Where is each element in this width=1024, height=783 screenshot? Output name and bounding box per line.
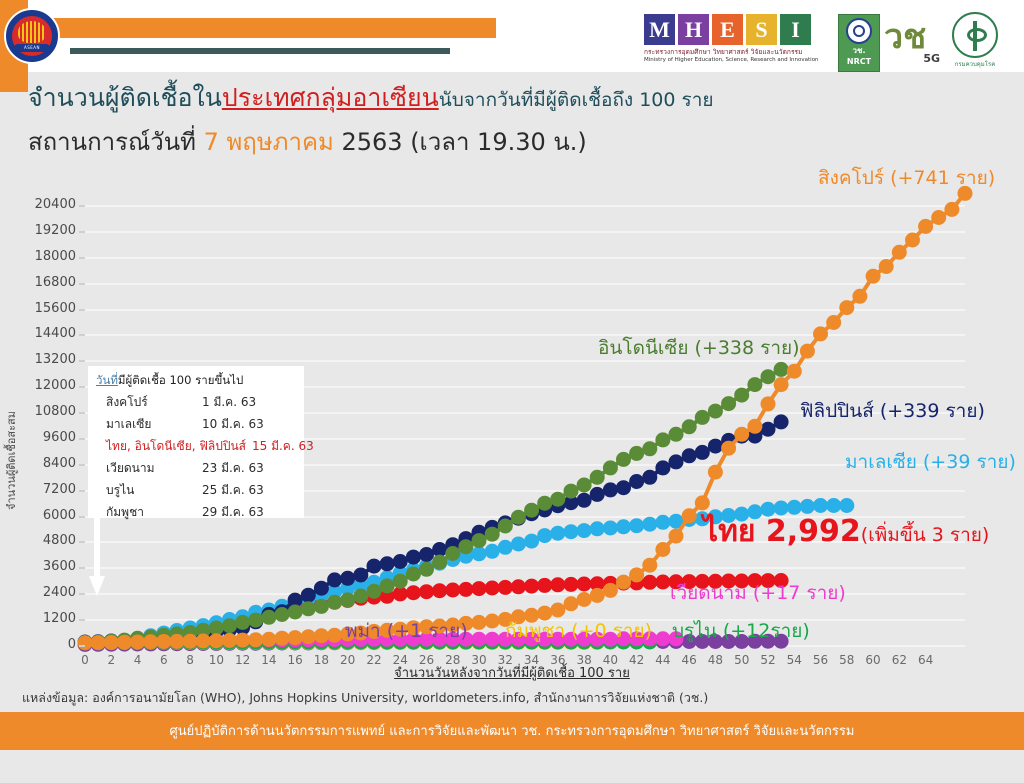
- y-axis-tick-label: 0: [6, 637, 76, 652]
- data-point: [590, 470, 605, 485]
- series-label-vietnam: เวียดนาม (+17 ราย): [670, 578, 846, 608]
- legend-date: 10 มี.ค. 63: [202, 417, 264, 431]
- data-point: [288, 630, 303, 645]
- data-point: [314, 628, 329, 643]
- data-point: [406, 567, 421, 582]
- data-point: [340, 592, 355, 607]
- wo-5g-logo: วช 5G: [884, 20, 940, 66]
- data-point: [196, 634, 211, 649]
- data-point: [524, 579, 539, 594]
- y-axis-tick-mark: [79, 516, 85, 518]
- data-point: [432, 583, 447, 598]
- data-point: [603, 521, 618, 536]
- legend-country: บรูไน: [106, 481, 202, 500]
- y-axis-tick-mark: [79, 386, 85, 388]
- data-point: [156, 634, 171, 649]
- data-point: [616, 452, 631, 467]
- data-point: [787, 364, 802, 379]
- y-axis-tick-mark: [79, 593, 85, 595]
- y-axis-tick-mark: [79, 231, 85, 233]
- data-point: [472, 632, 487, 647]
- y-axis-tick-mark: [79, 645, 85, 647]
- data-point: [78, 635, 93, 650]
- data-point: [642, 517, 657, 532]
- asean-logo-icon: ASEAN: [4, 8, 60, 64]
- data-point: [537, 496, 552, 511]
- data-point: [511, 579, 526, 594]
- data-point: [695, 410, 710, 425]
- data-point: [130, 635, 145, 650]
- data-point: [866, 269, 881, 284]
- legend-row: สิงคโปร์1 มี.ค. 63: [106, 393, 296, 412]
- data-point: [511, 537, 526, 552]
- data-point: [393, 554, 408, 569]
- data-point: [577, 592, 592, 607]
- legend-date: 1 มี.ค. 63: [202, 395, 256, 409]
- y-axis-tick-mark: [79, 412, 85, 414]
- y-axis-tick-label: 20400: [6, 197, 76, 212]
- y-axis-tick-mark: [79, 283, 85, 285]
- y-axis-tick-mark: [79, 464, 85, 466]
- data-point: [655, 515, 670, 530]
- x-axis-label: จำนวนวันหลังจากวันที่มีผู้ติดเชื้อ 100 ร…: [0, 662, 1024, 683]
- data-point: [485, 544, 500, 559]
- teal-title-bar: [70, 48, 450, 54]
- thailand-new-cases: (เพิ่มขึ้น 3 ราย): [861, 524, 990, 546]
- data-point: [275, 607, 290, 622]
- legend-header-rest: มีผู้ติดเชื้อ 100 รายขึ้นไป: [118, 373, 243, 387]
- data-point: [721, 396, 736, 411]
- page-title-line-1: จำนวนผู้ติดเชื้อในประเทศกลุ่มอาเซียนนับจ…: [28, 78, 714, 118]
- y-axis-tick-label: 9600: [6, 430, 76, 445]
- title-highlight-asean: ประเทศกลุ่มอาเซียน: [222, 83, 439, 112]
- data-point: [761, 396, 776, 411]
- title-year: 2563: [341, 128, 402, 156]
- data-point: [564, 577, 579, 592]
- data-point: [91, 635, 106, 650]
- data-point: [485, 632, 500, 647]
- data-point: [629, 567, 644, 582]
- data-point: [261, 610, 276, 625]
- data-point: [747, 377, 762, 392]
- data-point: [222, 633, 237, 648]
- series-label-myanmar: พม่า (+1 ราย): [345, 616, 468, 646]
- data-point: [117, 635, 132, 650]
- data-point: [839, 300, 854, 315]
- legend-header-underline: วันที่: [96, 373, 118, 387]
- title-part-a: จำนวนผู้ติดเชื้อใน: [28, 83, 222, 112]
- data-point: [445, 546, 460, 561]
- data-point: [761, 369, 776, 384]
- data-point: [314, 581, 329, 596]
- y-axis-tick-label: 10800: [6, 404, 76, 419]
- data-point: [380, 578, 395, 593]
- data-point: [734, 388, 749, 403]
- data-point: [564, 524, 579, 539]
- data-point: [537, 528, 552, 543]
- y-axis-tick-label: 19200: [6, 223, 76, 238]
- data-point: [682, 448, 697, 463]
- data-point: [327, 572, 342, 587]
- data-point: [550, 577, 565, 592]
- data-point: [655, 542, 670, 557]
- data-point: [564, 484, 579, 499]
- data-point: [616, 575, 631, 590]
- data-point: [472, 546, 487, 561]
- data-point: [682, 508, 697, 523]
- data-point: [682, 419, 697, 434]
- data-point: [642, 558, 657, 573]
- legend-row: ไทย, อินโดนีเซีย, ฟิลิปปินส์15 มี.ค. 63: [106, 437, 296, 456]
- data-point: [800, 344, 815, 359]
- dcd-logo: กรมควบคุมโรค: [944, 12, 1006, 72]
- data-point: [577, 478, 592, 493]
- y-axis-tick-label: 18000: [6, 249, 76, 264]
- legend-row: กัมพูชา29 มี.ค. 63: [106, 503, 296, 522]
- data-point: [655, 460, 670, 475]
- data-point: [235, 633, 250, 648]
- mhesi-logo: M H E S I กระทรวงการอุดมศึกษา วิทยาศาสตร…: [644, 14, 834, 72]
- y-axis-tick-mark: [79, 309, 85, 311]
- data-point: [590, 521, 605, 536]
- data-point: [367, 584, 382, 599]
- legend-date: 15 มี.ค. 63: [252, 439, 314, 453]
- data-point: [734, 427, 749, 442]
- title-time: (เวลา 19.30 น.): [410, 128, 587, 156]
- data-point: [774, 377, 789, 392]
- data-point: [590, 487, 605, 502]
- data-point: [761, 422, 776, 437]
- data-point: [485, 581, 500, 596]
- nrct-logo: วช. NRCT: [838, 14, 880, 72]
- data-point: [708, 404, 723, 419]
- data-point: [655, 432, 670, 447]
- data-point: [813, 326, 828, 341]
- data-point: [642, 441, 657, 456]
- gear-icon: [846, 18, 872, 44]
- data-point: [708, 439, 723, 454]
- data-point: [550, 492, 565, 507]
- data-point: [944, 202, 959, 217]
- legend-date: 23 มี.ค. 63: [202, 461, 264, 475]
- data-point: [616, 519, 631, 534]
- legend-country: สิงคโปร์: [106, 393, 202, 412]
- title-date: 7 พฤษภาคม: [204, 128, 334, 156]
- data-point: [524, 534, 539, 549]
- mhesi-letters: M H E S I: [644, 14, 834, 45]
- data-point: [472, 615, 487, 630]
- data-point: [104, 635, 119, 650]
- y-axis-tick-label: 2400: [6, 585, 76, 600]
- y-axis-tick-label: 13200: [6, 352, 76, 367]
- title-part-b: นับจากวันที่มีผู้ติดเชื้อถึง 100 ราย: [439, 89, 714, 111]
- source-line: แหล่งข้อมูล: องค์การอนามัยโลก (WHO), Joh…: [22, 688, 708, 708]
- data-point: [445, 583, 460, 598]
- data-point: [603, 482, 618, 497]
- data-point: [655, 631, 670, 646]
- data-point: [774, 414, 789, 429]
- data-point: [642, 575, 657, 590]
- data-point: [209, 633, 224, 648]
- data-point: [485, 527, 500, 542]
- data-point: [629, 518, 644, 533]
- data-point: [235, 615, 250, 630]
- data-point: [380, 556, 395, 571]
- thailand-total: ไทย 2,992: [703, 514, 861, 549]
- series-label-philippines: ฟิลิปปินส์ (+339 ราย): [800, 396, 985, 426]
- legend-country: กัมพูชา: [106, 503, 202, 522]
- legend-date: 25 มี.ค. 63: [202, 483, 264, 497]
- y-axis-tick-label: 7200: [6, 482, 76, 497]
- data-point: [511, 510, 526, 525]
- caduceus-icon: [952, 12, 998, 58]
- wo-5g-badge: 5G: [923, 52, 940, 65]
- data-point: [747, 419, 762, 434]
- data-point: [406, 550, 421, 565]
- data-point: [669, 427, 684, 442]
- data-point: [655, 575, 670, 590]
- legend-row: บรูไน25 มี.ค. 63: [106, 481, 296, 500]
- orange-title-bar: [26, 18, 496, 38]
- series-label-thailand: ไทย 2,992(เพิ่มขึ้น 3 ราย): [703, 508, 989, 555]
- legend-row: เวียดนาม23 มี.ค. 63: [106, 459, 296, 478]
- data-point: [721, 441, 736, 456]
- series-label-cambodia: กัมพูชา (+0 ราย): [505, 616, 652, 646]
- mhesi-english-name: Ministry of Higher Education, Science, R…: [644, 57, 834, 63]
- data-point: [708, 465, 723, 480]
- legend-header: วันที่มีผู้ติดเชื้อ 100 รายขึ้นไป: [96, 372, 296, 390]
- series-label-indonesia: อินโดนีเซีย (+338 ราย): [598, 333, 800, 363]
- data-point: [275, 631, 290, 646]
- data-point: [669, 454, 684, 469]
- data-point: [879, 259, 894, 274]
- data-point: [248, 632, 263, 647]
- data-point: [419, 584, 434, 599]
- data-point: [629, 446, 644, 461]
- series-label-malaysia: มาเลเซีย (+39 ราย): [845, 447, 1016, 477]
- data-point: [498, 519, 513, 534]
- legend-row: มาเลเซีย10 มี.ค. 63: [106, 415, 296, 434]
- data-point: [248, 613, 263, 628]
- data-point: [603, 460, 618, 475]
- wo-glyph: วช: [884, 20, 940, 54]
- data-point: [301, 629, 316, 644]
- data-point: [301, 601, 316, 616]
- y-axis-tick-mark: [79, 257, 85, 259]
- y-axis-tick-label: 8400: [6, 456, 76, 471]
- data-point: [918, 219, 933, 234]
- data-point: [419, 562, 434, 577]
- data-point: [353, 589, 368, 604]
- data-point: [564, 596, 579, 611]
- data-point: [892, 245, 907, 260]
- y-axis-tick-mark: [79, 334, 85, 336]
- y-axis-tick-mark: [79, 438, 85, 440]
- y-axis-tick-label: 16800: [6, 275, 76, 290]
- data-point: [931, 210, 946, 225]
- data-point: [169, 634, 184, 649]
- legend-date: 29 มี.ค. 63: [202, 505, 264, 519]
- data-point: [642, 470, 657, 485]
- data-point: [432, 555, 447, 570]
- data-point: [577, 493, 592, 508]
- data-point: [367, 559, 382, 574]
- data-point: [695, 445, 710, 460]
- data-point: [419, 547, 434, 562]
- y-axis-tick-label: 12000: [6, 378, 76, 393]
- data-point: [498, 540, 513, 555]
- data-point: [852, 289, 867, 304]
- mhesi-letter-i: I: [780, 14, 811, 45]
- data-point: [340, 571, 355, 586]
- data-point: [669, 529, 684, 544]
- mhesi-letter-s: S: [746, 14, 777, 45]
- data-point: [406, 585, 421, 600]
- mhesi-thai-name: กระทรวงการอุดมศึกษา วิทยาศาสตร์ วิจัยและ…: [644, 47, 834, 57]
- page-title-line-2: สถานการณ์วันที่ 7 พฤษภาคม 2563 (เวลา 19.…: [28, 122, 587, 161]
- data-point: [301, 588, 316, 603]
- data-point: [314, 599, 329, 614]
- data-point: [261, 632, 276, 647]
- data-point: [327, 595, 342, 610]
- data-point: [143, 634, 158, 649]
- y-axis-tick-mark: [79, 567, 85, 569]
- data-point: [393, 574, 408, 589]
- nrct-eng-label: NRCT: [839, 57, 879, 66]
- data-point: [353, 568, 368, 583]
- title-situation-prefix: สถานการณ์วันที่: [28, 128, 196, 156]
- data-point: [550, 526, 565, 541]
- data-point: [537, 578, 552, 593]
- y-axis-tick-mark: [79, 541, 85, 543]
- asean-logo-text: ASEAN: [14, 44, 50, 52]
- legend-country: ไทย, อินโดนีเซีย, ฟิลิปปินส์: [106, 437, 246, 456]
- date-legend-box: วันที่มีผู้ติดเชื้อ 100 รายขึ้นไป สิงคโป…: [88, 366, 304, 518]
- data-point: [472, 581, 487, 596]
- mhesi-letter-h: H: [678, 14, 709, 45]
- data-point: [472, 533, 487, 548]
- series-label-brunei: บรูไน (+12ราย): [672, 616, 810, 646]
- data-point: [222, 618, 237, 633]
- y-axis-tick-label: 6000: [6, 508, 76, 523]
- data-point: [183, 634, 198, 649]
- data-point: [524, 503, 539, 518]
- data-point: [577, 577, 592, 592]
- organization-footer: ศูนย์ปฏิบัติการด้านนวัตกรรมการแพทย์ และก…: [0, 720, 1024, 741]
- y-axis-tick-mark: [79, 619, 85, 621]
- legend-country: เวียดนาม: [106, 459, 202, 478]
- y-axis-tick-label: 3600: [6, 559, 76, 574]
- data-point: [603, 583, 618, 598]
- mhesi-letter-m: M: [644, 14, 675, 45]
- data-point: [577, 523, 592, 538]
- y-axis-tick-mark: [79, 490, 85, 492]
- y-axis-tick-label: 14400: [6, 326, 76, 341]
- data-point: [616, 480, 631, 495]
- y-axis-tick-label: 4800: [6, 533, 76, 548]
- data-point: [629, 474, 644, 489]
- data-point: [590, 588, 605, 603]
- nrct-thai-label: วช.: [839, 46, 879, 55]
- data-point: [458, 582, 473, 597]
- mhesi-letter-e: E: [712, 14, 743, 45]
- legend-country: มาเลเซีย: [106, 415, 202, 434]
- data-point: [774, 362, 789, 377]
- data-point: [327, 628, 342, 643]
- dcd-caption: กรมควบคุมโรค: [944, 59, 1006, 69]
- y-axis-tick-mark: [79, 205, 85, 207]
- legend-rows: สิงคโปร์1 มี.ค. 63มาเลเซีย10 มี.ค. 63ไทย…: [96, 393, 296, 522]
- data-point: [288, 605, 303, 620]
- y-axis-tick-mark: [79, 360, 85, 362]
- data-point: [905, 233, 920, 248]
- data-point: [458, 539, 473, 554]
- y-axis-tick-label: 15600: [6, 301, 76, 316]
- data-point: [485, 614, 500, 629]
- data-point: [498, 580, 513, 595]
- data-point: [826, 315, 841, 330]
- series-label-singapore: สิงคโปร์ (+741 ราย): [818, 163, 995, 193]
- y-axis-tick-label: 1200: [6, 611, 76, 626]
- down-arrow-annotation: [89, 516, 105, 598]
